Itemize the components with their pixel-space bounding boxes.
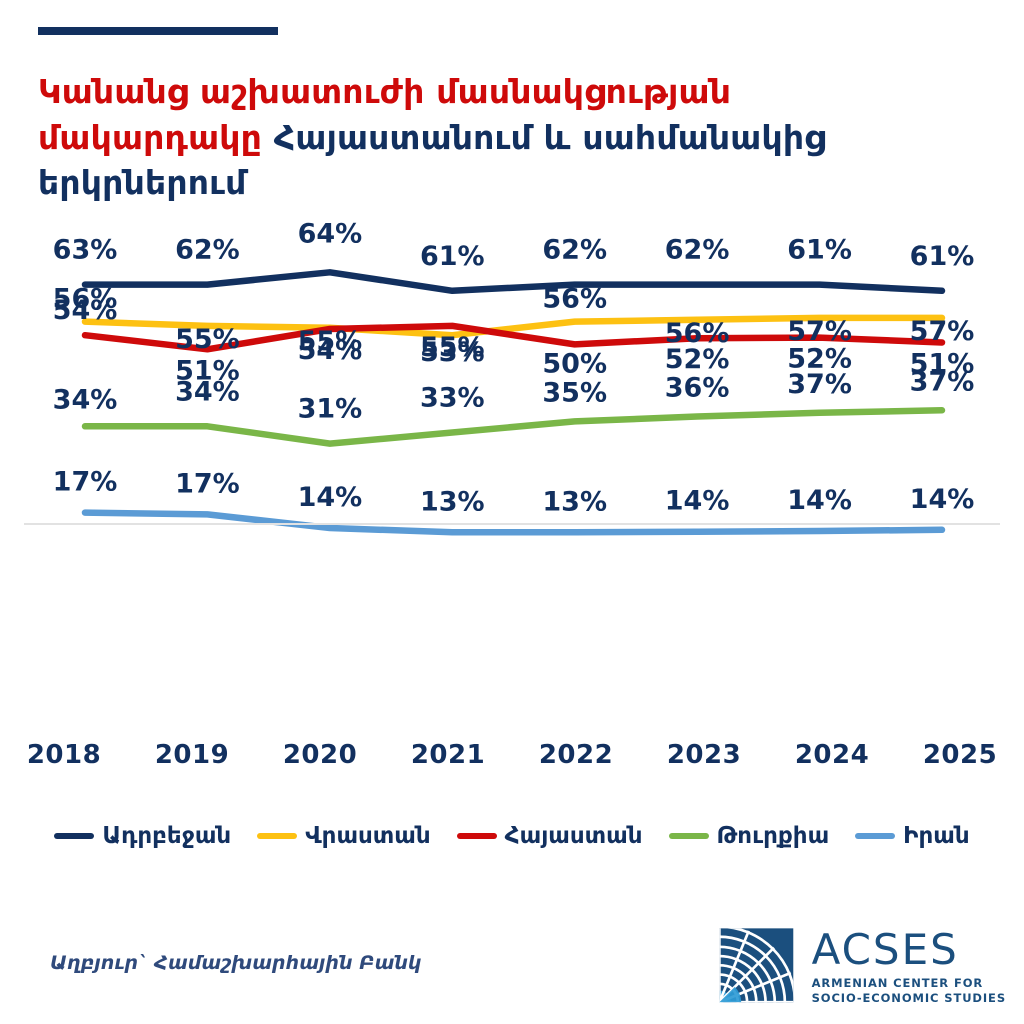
legend-label: Թուրքիա xyxy=(717,823,830,849)
acses-tagline-line-2: SOCIO-ECONOMIC STUDIES xyxy=(812,991,1006,1005)
acses-logo: ACSES ARMENIAN CENTER FOR SOCIO-ECONOMIC… xyxy=(716,925,1006,1009)
data-label: 54% xyxy=(53,295,118,326)
x-tick-2024: 2024 xyxy=(768,740,896,770)
data-label: 61% xyxy=(420,241,485,272)
acses-wordmark: ACSES xyxy=(812,929,1006,971)
data-label: 56% xyxy=(542,284,607,315)
source-note: Աղբյուր` Համաշխարհային Բանկ xyxy=(50,952,421,974)
acses-logo-text: ACSES ARMENIAN CENTER FOR SOCIO-ECONOMIC… xyxy=(812,929,1006,1005)
series-line-4 xyxy=(85,410,942,443)
data-label: 61% xyxy=(787,235,852,266)
legend-label: Վրաստան xyxy=(305,823,430,849)
data-label: 17% xyxy=(175,468,240,499)
legend-label: Ադրբեջան xyxy=(102,823,231,849)
data-label: 13% xyxy=(420,486,485,517)
x-tick-2018: 2018 xyxy=(0,740,128,770)
data-label: 55% xyxy=(175,324,240,355)
chart-legend: ԱդրբեջանՎրաստանՀայաստանԹուրքիաԻրան xyxy=(0,823,1024,849)
data-label: 37% xyxy=(910,366,975,397)
legend-swatch-icon xyxy=(54,833,94,839)
chart-plot-area: 63%62%64%61%62%62%61%61%56%55%55%53%56%5… xyxy=(0,200,1024,740)
data-label: 36% xyxy=(665,373,730,404)
legend-label: Հայաստան xyxy=(505,823,643,849)
data-label: 57% xyxy=(910,316,975,347)
title-accent-rule xyxy=(38,27,278,35)
data-label: 17% xyxy=(53,467,118,498)
acses-logo-mark-icon xyxy=(716,925,800,1009)
x-axis-tick-labels: 20182019202020212022202320242025 xyxy=(0,740,1024,770)
data-label: 13% xyxy=(542,486,607,517)
legend-item-2[interactable]: Վրաստան xyxy=(257,823,430,849)
legend-swatch-icon xyxy=(257,833,297,839)
legend-item-1[interactable]: Ադրբեջան xyxy=(54,823,231,849)
data-label: 55% xyxy=(420,332,485,363)
x-axis-line xyxy=(24,523,1000,525)
data-label: 34% xyxy=(175,376,240,407)
legend-item-5[interactable]: Իրան xyxy=(855,823,969,849)
legend-label: Իրան xyxy=(903,823,969,849)
data-label: 14% xyxy=(787,485,852,516)
x-tick-2020: 2020 xyxy=(256,740,384,770)
legend-item-4[interactable]: Թուրքիա xyxy=(669,823,830,849)
acses-tagline: ARMENIAN CENTER FOR SOCIO-ECONOMIC STUDI… xyxy=(812,976,1006,1005)
data-label: 14% xyxy=(665,486,730,517)
data-label: 63% xyxy=(53,235,118,266)
x-tick-2025: 2025 xyxy=(896,740,1024,770)
data-label: 33% xyxy=(420,383,485,414)
line-chart: 63%62%64%61%62%62%61%61%56%55%55%53%56%5… xyxy=(0,200,1024,740)
data-label: 64% xyxy=(298,218,363,249)
data-label: 57% xyxy=(787,316,852,347)
data-label: 14% xyxy=(910,484,975,515)
data-label: 61% xyxy=(910,241,975,272)
legend-swatch-icon xyxy=(855,833,895,839)
data-label: 54% xyxy=(298,335,363,366)
x-tick-2023: 2023 xyxy=(640,740,768,770)
legend-item-3[interactable]: Հայաստան xyxy=(457,823,643,849)
data-label: 52% xyxy=(665,344,730,375)
data-label: 35% xyxy=(542,377,607,408)
x-tick-2022: 2022 xyxy=(512,740,640,770)
data-label: 62% xyxy=(665,235,730,266)
x-tick-2021: 2021 xyxy=(384,740,512,770)
data-label: 14% xyxy=(298,482,363,513)
legend-swatch-icon xyxy=(669,833,709,839)
data-label: 62% xyxy=(175,235,240,266)
data-label: 37% xyxy=(787,369,852,400)
data-label: 31% xyxy=(298,394,363,425)
legend-swatch-icon xyxy=(457,833,497,839)
acses-tagline-line-1: ARMENIAN CENTER FOR xyxy=(812,976,1006,990)
data-label: 34% xyxy=(53,384,118,415)
series-line-1 xyxy=(85,272,942,291)
data-label: 62% xyxy=(542,235,607,266)
data-label: 50% xyxy=(542,348,607,379)
page-title: Կանանց աշխատուժի մասնակցության մակարդակը… xyxy=(38,69,938,206)
x-tick-2019: 2019 xyxy=(128,740,256,770)
